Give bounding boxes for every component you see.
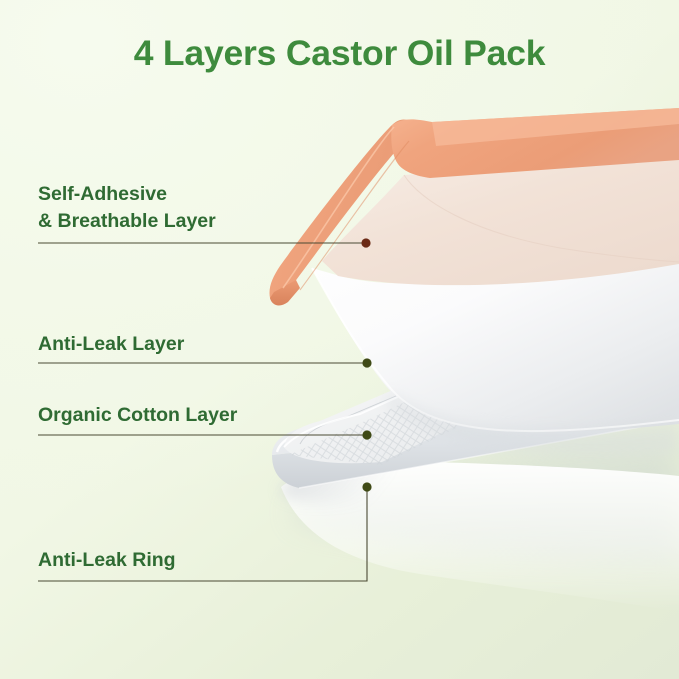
anti-leak-ring-layer [281, 461, 679, 612]
castor-oil-pack-infographic: 4 Layers Castor Oil Pack Self-Adhesive &… [0, 0, 679, 679]
callout-label-self-adhesive: Self-Adhesive & Breathable Layer [38, 181, 216, 235]
page-title: 4 Layers Castor Oil Pack [0, 33, 679, 74]
callout-label-anti-leak-layer: Anti-Leak Layer [38, 331, 184, 358]
callout-label-anti-leak-ring: Anti-Leak Ring [38, 547, 176, 574]
callout-label-organic-cotton: Organic Cotton Layer [38, 402, 237, 429]
